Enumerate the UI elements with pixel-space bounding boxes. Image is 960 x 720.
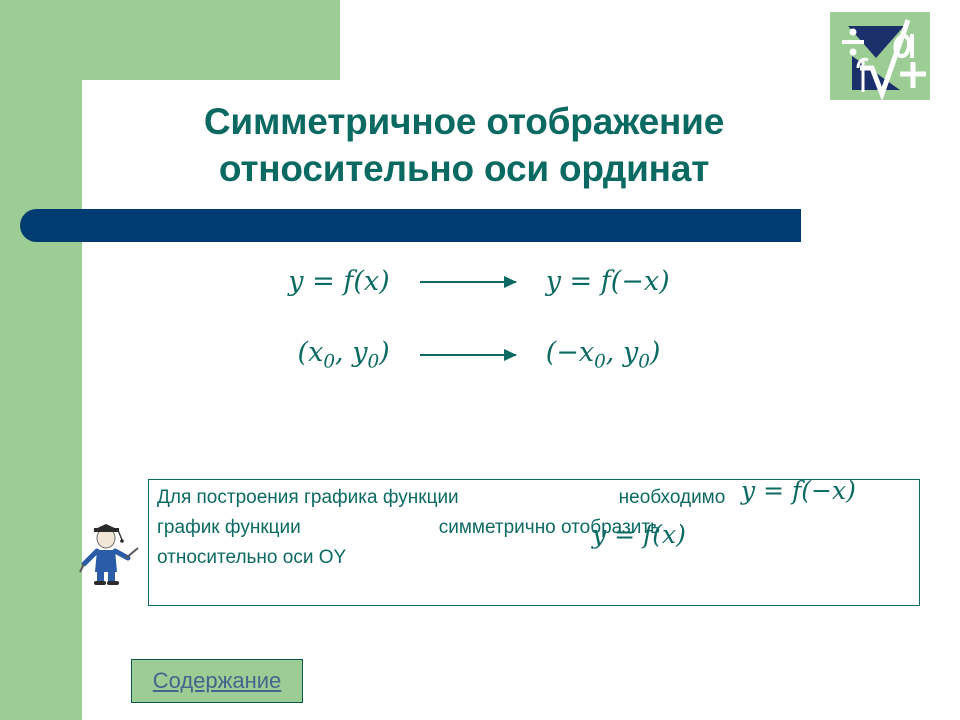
content-link-label[interactable]: Содержание	[153, 668, 282, 694]
textbox-line-3: относительно оси OY	[157, 547, 346, 569]
formula-1-right-neg: −	[621, 266, 644, 297]
overlay-1-neg: −	[811, 476, 832, 505]
formula-2-left: (x0, y0)	[298, 337, 390, 372]
textbox-line-2: график функциисимметрично отобразить	[157, 517, 660, 539]
formula-2-right-x: x	[579, 337, 594, 368]
formula-2-left-xsub: 0	[323, 351, 335, 372]
formula-1-right-lhs: y	[546, 266, 561, 297]
overlay-1-lhs: y	[741, 476, 755, 505]
formula-2-left-comma: ,	[335, 337, 352, 368]
overlay-formula-1: y = f(−x)	[741, 476, 856, 505]
textbox-line-1-a: Для построения графика функции	[157, 487, 459, 508]
professor-icon	[72, 514, 142, 586]
formula-1-left-open: (	[353, 266, 364, 297]
formula-1-right-fn: f	[601, 266, 611, 297]
overlay-2-fn: f	[643, 520, 652, 549]
formula-2-right-ysub: 0	[638, 351, 650, 372]
overlay-2-arg: x	[662, 520, 676, 549]
formula-2-right: (−x0, y0)	[546, 337, 661, 372]
formula-1-right-open: (	[611, 266, 622, 297]
formula-1-left-close: )	[379, 266, 390, 297]
formula-1-right-close: )	[659, 266, 670, 297]
overlay-1-arg: x	[832, 476, 846, 505]
overlay-1-fn: f	[792, 476, 801, 505]
formula-1-left-lhs: y	[288, 266, 303, 297]
math-logo	[830, 12, 930, 100]
left-green-band	[0, 0, 84, 720]
textbox-line-1-b: необходимо	[619, 487, 726, 508]
formula-1-arrow-icon	[420, 281, 516, 283]
overlay-1-open: (	[801, 476, 811, 505]
formula-2-right-neg: −	[556, 337, 579, 368]
title-underline-bar	[20, 209, 801, 242]
formula-2-left-x: x	[308, 337, 323, 368]
formula-row-1: y = f(x) y = f(−x)	[84, 266, 874, 297]
formula-2-left-ysub: 0	[367, 351, 379, 372]
title-line-1: Симметричное отображение	[84, 98, 844, 145]
formula-row-2: (x0, y0) (−x0, y0)	[84, 337, 874, 372]
overlay-1-close: )	[846, 476, 856, 505]
textbox-line-2-a: график функции	[157, 517, 301, 538]
formula-2-arrow-icon	[420, 354, 516, 356]
formula-2-left-open: (	[298, 337, 309, 368]
slide-root: Симметричное отображение относительно ос…	[0, 0, 960, 720]
formula-1-right: y = f(−x)	[546, 266, 670, 297]
textbox-line-1: Для построения графика функциинеобходимо	[157, 487, 725, 509]
formula-2-left-y: y	[352, 337, 367, 368]
top-green-band	[0, 0, 340, 80]
formula-2-right-xsub: 0	[594, 351, 606, 372]
formula-1-left: y = f(x)	[288, 266, 389, 297]
overlay-2-close: )	[676, 520, 686, 549]
formula-1-right-arg: x	[644, 266, 659, 297]
formula-1-left-arg: x	[364, 266, 379, 297]
formula-2-right-close: )	[650, 337, 661, 368]
title-line-2: относительно оси ординат	[84, 145, 844, 192]
formula-1-left-fn: f	[343, 266, 353, 297]
formula-1-right-eq: =	[561, 266, 601, 297]
description-textbox: Для построения графика функциинеобходимо…	[148, 479, 920, 606]
overlay-1-eq: =	[755, 476, 792, 505]
formula-2-left-close: )	[379, 337, 390, 368]
formula-2-right-open: (	[546, 337, 557, 368]
overlay-2-eq: =	[606, 520, 643, 549]
formula-2-right-comma: ,	[606, 337, 623, 368]
formula-2-right-y: y	[623, 337, 638, 368]
overlay-formula-2: y = f(x)	[592, 520, 686, 549]
overlay-2-open: (	[652, 520, 662, 549]
formula-1-left-eq: =	[304, 266, 344, 297]
content-link-button[interactable]: Содержание	[131, 659, 303, 703]
page-title: Симметричное отображение относительно ос…	[84, 98, 844, 193]
overlay-2-lhs: y	[592, 520, 606, 549]
